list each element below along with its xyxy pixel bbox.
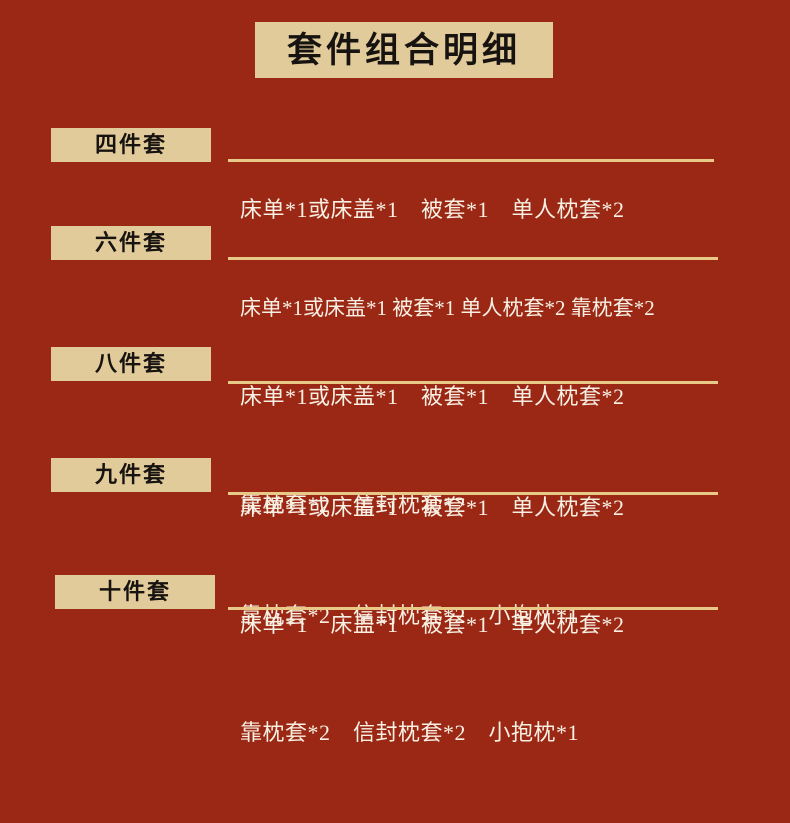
set-list: 四件套 床单*1或床盖*1 被套*1 单人枕套*2 六件套 床单*1或床盖*1 … <box>0 110 790 655</box>
set-label-four-piece: 四件套 <box>95 134 167 156</box>
set-label-badge-ten-piece: 十件套 <box>55 575 215 609</box>
set-content-ten-piece: 床单*1 床盖*1 被套*1 单人枕套*2 靠枕套*2 信封枕套*2 小抱枕*1 <box>240 535 625 823</box>
page-title: 套件组合明细 <box>287 33 521 68</box>
set-content-line: 床单*1 床盖*1 被套*1 单人枕套*2 <box>240 607 625 643</box>
set-content-line: 床单*1或床盖*1 被套*1 单人枕套*2 <box>240 379 625 415</box>
set-divider-six-piece <box>228 257 718 260</box>
set-label-six-piece: 六件套 <box>95 232 167 254</box>
set-row-ten-piece: 十件套 床单*1 床盖*1 被套*1 单人枕套*2 靠枕套*2 信封枕套*2 小… <box>0 535 790 655</box>
set-label-badge-four-piece: 四件套 <box>51 128 211 162</box>
set-divider-nine-piece <box>228 492 718 495</box>
set-row-four-piece: 四件套 床单*1或床盖*1 被套*1 单人枕套*2 <box>0 110 790 210</box>
set-content-line: 床单*1或床盖*1 被套*1 单人枕套*2 <box>240 490 625 526</box>
set-content-line: 靠枕套*2 信封枕套*2 小抱枕*1 <box>240 715 625 751</box>
set-row-eight-piece: 八件套 床单*1或床盖*1 被套*1 单人枕套*2 靠枕套*2 信封枕套*2 <box>0 310 790 420</box>
set-divider-eight-piece <box>228 381 718 384</box>
page-title-banner: 套件组合明细 <box>255 22 553 78</box>
set-label-badge-nine-piece: 九件套 <box>51 458 211 492</box>
set-label-badge-six-piece: 六件套 <box>51 226 211 260</box>
set-label-badge-eight-piece: 八件套 <box>51 347 211 381</box>
set-row-nine-piece: 九件套 床单*1或床盖*1 被套*1 单人枕套*2 靠枕套*2 信封枕套*2 小… <box>0 420 790 535</box>
page-root: { "page": { "background_color": "#9b2815… <box>0 0 790 677</box>
set-label-eight-piece: 八件套 <box>95 353 167 375</box>
set-row-six-piece: 六件套 床单*1或床盖*1 被套*1 单人枕套*2 靠枕套*2 <box>0 210 790 310</box>
set-label-ten-piece: 十件套 <box>99 581 171 603</box>
set-divider-ten-piece <box>228 607 718 610</box>
set-divider-four-piece <box>228 159 714 162</box>
set-label-nine-piece: 九件套 <box>95 464 167 486</box>
